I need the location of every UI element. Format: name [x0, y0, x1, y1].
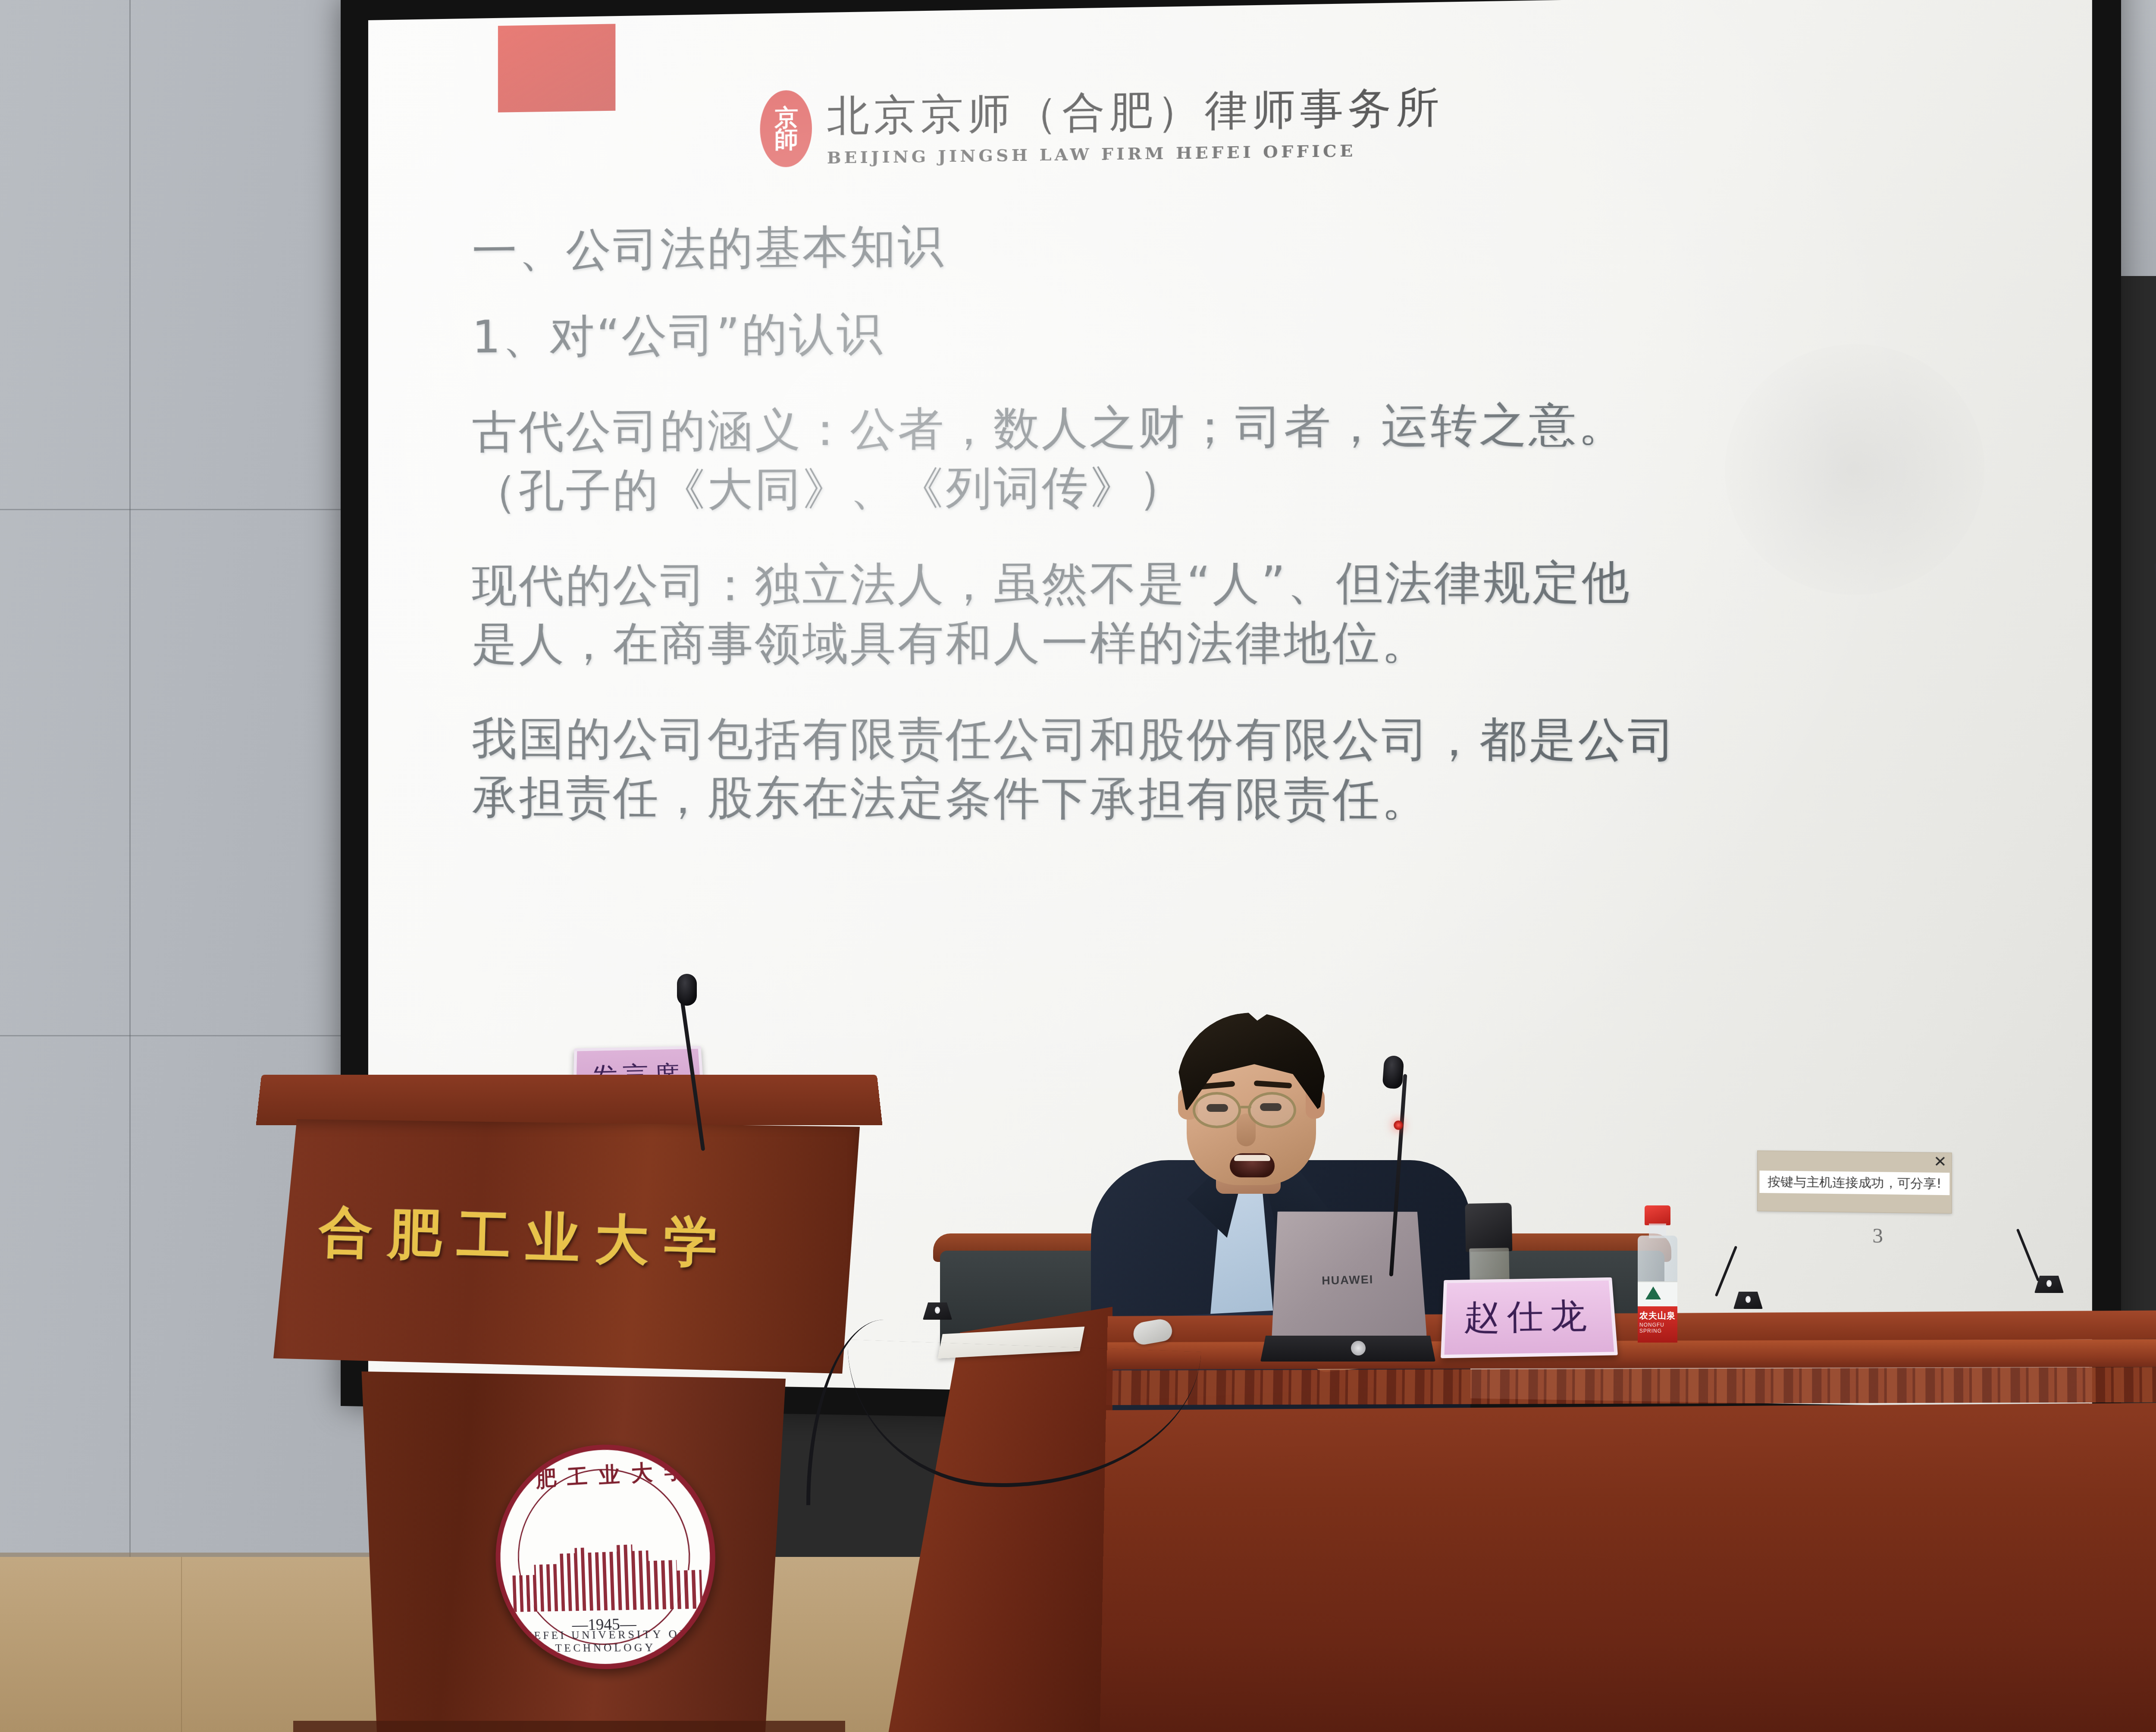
logo-red-block — [498, 24, 615, 112]
nameplate-name: 赵仕龙 — [1463, 1293, 1595, 1341]
emblem-label-cn: 合肥工业大学 — [498, 1454, 708, 1496]
slide-text-block: 一、公司法的基本知识 1、对“公司”的认识 古代公司的涵义：公者，数人之财；司者… — [472, 203, 2036, 831]
water-bottle[interactable]: 农夫山泉 NONGFU SPRING — [1635, 1205, 1680, 1335]
lectern-base — [293, 1721, 845, 1732]
mic-active-led — [1394, 1120, 1403, 1130]
nose — [1237, 1114, 1256, 1146]
table-front-panel — [1100, 1400, 2156, 1732]
slide-heading: 一、公司法的基本知识 — [472, 203, 2036, 280]
toast-message: 按键与主机连接成功，可分享! — [1759, 1170, 1949, 1195]
lectern: 发言席 合肥工业大学 合肥工业大学 —1945— HEFEI UNIVERSIT… — [241, 1074, 897, 1732]
slide-page-number: 3 — [1872, 1224, 1883, 1248]
seal-glyph: 京 師 — [760, 107, 812, 151]
bottle-cap — [1645, 1205, 1670, 1225]
laptop-base-logo-icon — [1351, 1341, 1366, 1355]
bottle-brand-en: NONGFU SPRING — [1639, 1322, 1677, 1334]
eyeglasses-left-lens — [1193, 1092, 1241, 1128]
bottle-body: 农夫山泉 NONGFU SPRING — [1638, 1236, 1677, 1335]
emblem-label-en: HEFEI UNIVERSITY OF TECHNOLOGY — [503, 1627, 713, 1655]
university-emblem: 合肥工业大学 —1945— HEFEI UNIVERSITY OF TECHNO… — [492, 1437, 719, 1669]
table-greek-key-carving — [1106, 1366, 2156, 1405]
slide-paragraph-modern: 现代的公司：独立法人，虽然不是“人”、但法律规定他 是人，在商事领域具有和人一样… — [472, 551, 2036, 673]
slide-paragraph-china: 我国的公司包括有限责任公司和股份有限公司，都是公司 承担责任，股东在法定条件下承… — [472, 709, 2036, 831]
laptop[interactable]: HUAWEI — [1268, 1208, 1427, 1341]
nameplate-holder: 赵仕龙 — [1441, 1277, 1618, 1358]
lecture-hall-scene: 京 師 北京京师（合肥）律师事务所 BEIJING JINGSH LAW FIR… — [0, 0, 2156, 1732]
law-firm-logo: 京 師 北京京师（合肥）律师事务所 BEIJING JINGSH LAW FIR… — [760, 79, 1444, 168]
mountain-icon — [1645, 1286, 1661, 1299]
nameplate-card: 赵仕龙 — [1441, 1277, 1618, 1358]
bottle-label-brand: 农夫山泉 NONGFU SPRING — [1638, 1306, 1677, 1343]
bottle-brand-cn: 农夫山泉 — [1639, 1310, 1676, 1321]
lectern-mic-head-icon — [677, 974, 697, 1006]
table-top-surface — [1107, 1308, 2156, 1345]
seal-icon: 京 師 — [760, 90, 812, 167]
connection-toast[interactable]: ✕ 按键与主机连接成功，可分享! — [1757, 1151, 1952, 1214]
lectern-top — [256, 1075, 883, 1125]
bottle-label-top — [1638, 1281, 1677, 1306]
law-firm-name-cn: 北京京师（合肥）律师事务所 — [827, 79, 1444, 145]
close-icon[interactable]: ✕ — [1934, 1154, 1947, 1169]
slide-logo — [498, 24, 615, 112]
slide-paragraph-ancient: 古代公司的涵义：公者，数人之财；司者，运转之意。 （孔子的《大同》、《列词传》） — [472, 391, 2036, 520]
conference-table — [1100, 1308, 2156, 1732]
mouth — [1230, 1153, 1275, 1177]
camera-mount-arm — [2154, 559, 2156, 586]
university-gold-lettering: 合肥工业大学 — [318, 1196, 829, 1283]
table-mic-head-icon — [1382, 1055, 1404, 1089]
lectern-column: 合肥工业大学 —1945— HEFEI UNIVERSITY OF TECHNO… — [310, 1371, 821, 1732]
slide-subheading: 1、对“公司”的认识 — [472, 293, 2036, 367]
thermos-cap — [1465, 1203, 1512, 1252]
eyeglasses-bridge — [1240, 1106, 1251, 1108]
laptop-base — [1260, 1336, 1435, 1362]
